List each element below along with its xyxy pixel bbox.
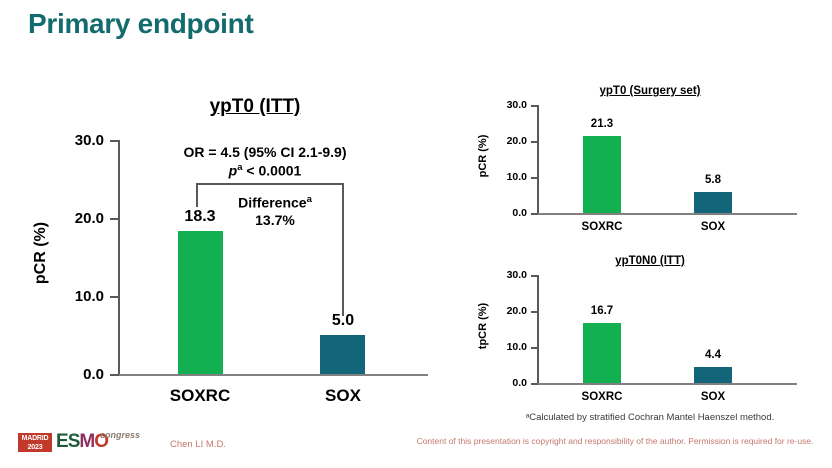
- slide-canvas: Primary endpoint ypT0 (ITT) OR = 4.5 (95…: [0, 0, 832, 468]
- y-tick-20-main: [110, 218, 119, 220]
- annotation-odds-ratio: OR = 4.5 (95% CI 2.1-9.9): [150, 144, 380, 160]
- chart-ypt0-surgery-set: ypT0 (Surgery set) 30.0 20.0 10.0 0.0 pC…: [455, 80, 832, 255]
- esmo-letter-e: E: [56, 431, 68, 452]
- x-axis-line-surgery: [537, 213, 797, 215]
- x-category-sox-t0n0: SOX: [668, 391, 758, 403]
- bar-sox-main: [320, 335, 365, 374]
- bar-sox-surgery: [694, 192, 732, 213]
- y-tick-label-10-main: 10.0: [44, 288, 104, 305]
- y-tick-label-0-t0n0: 0.0: [483, 377, 527, 389]
- esmo-letter-s: S: [68, 431, 80, 452]
- chart-ypt0n0-itt: ypT0N0 (ITT) 30.0 20.0 10.0 0.0 tpCR (%)…: [455, 250, 832, 425]
- bar-value-sox-t0n0: 4.4: [683, 349, 743, 361]
- y-tick-10-t0n0: [531, 347, 538, 349]
- y-axis-line-main: [118, 140, 120, 376]
- y-tick-30-t0n0: [531, 275, 538, 277]
- bar-soxrc-main: [178, 231, 223, 374]
- y-tick-label-30-t0n0: 30.0: [483, 269, 527, 281]
- chart-title-main: ypT0 (ITT): [120, 96, 390, 118]
- y-axis-title-t0n0: tpCR (%): [477, 298, 489, 354]
- bar-soxrc-surgery: [583, 136, 621, 213]
- y-tick-30-main: [110, 140, 119, 142]
- bar-soxrc-t0n0: [583, 323, 621, 383]
- y-tick-10-surgery: [531, 177, 538, 179]
- y-tick-label-30-surgery: 30.0: [483, 99, 527, 111]
- presenter-name: Chen LI M.D.: [170, 439, 226, 450]
- chart-title-surgery: ypT0 (Surgery set): [545, 85, 755, 97]
- x-axis-line-main: [118, 374, 428, 376]
- esmo-letter-m: M: [79, 431, 94, 452]
- y-axis-line-surgery: [537, 105, 539, 213]
- bar-value-sox-surgery: 5.8: [683, 174, 743, 186]
- bar-value-soxrc-main: 18.3: [160, 208, 240, 226]
- esmo-congress-logo: MADRID 2023 ESMO congress: [18, 430, 148, 458]
- x-axis-line-t0n0: [537, 383, 797, 385]
- y-tick-20-surgery: [531, 141, 538, 143]
- annotation-p-value: pa < 0.0001: [150, 162, 380, 179]
- y-tick-0-t0n0: [531, 383, 538, 385]
- esmo-logo-congress-text: congress: [100, 430, 140, 440]
- esmo-logo-location-badge: MADRID 2023: [18, 433, 52, 452]
- x-category-sox-main: SOX: [283, 386, 403, 406]
- difference-bracket-top: [196, 183, 344, 185]
- x-category-sox-surgery: SOX: [668, 221, 758, 233]
- p-rest: < 0.0001: [243, 163, 302, 179]
- chart-ypt0-itt: ypT0 (ITT) OR = 4.5 (95% CI 2.1-9.9) pa …: [0, 0, 460, 420]
- y-axis-title-main: pCR (%): [32, 218, 50, 288]
- esmo-logo-year: 2023: [18, 443, 52, 452]
- y-tick-label-20-surgery: 20.0: [483, 135, 527, 147]
- y-tick-10-main: [110, 296, 119, 298]
- y-axis-title-surgery: pCR (%): [477, 128, 489, 184]
- x-category-soxrc-t0n0: SOXRC: [557, 391, 647, 403]
- y-tick-0-surgery: [531, 213, 538, 215]
- y-tick-label-10-surgery: 10.0: [483, 171, 527, 183]
- y-tick-label-30-main: 30.0: [44, 132, 104, 149]
- difference-label-text: Difference: [238, 195, 306, 211]
- y-tick-label-0-main: 0.0: [44, 366, 104, 383]
- difference-bracket-left: [196, 183, 198, 207]
- x-category-soxrc-surgery: SOXRC: [557, 221, 647, 233]
- bar-value-sox-main: 5.0: [303, 312, 383, 330]
- esmo-logo-city: MADRID: [18, 434, 52, 443]
- x-category-soxrc-main: SOXRC: [140, 386, 260, 406]
- difference-superscript: a: [307, 194, 312, 205]
- y-tick-label-10-t0n0: 10.0: [483, 341, 527, 353]
- chart-title-t0n0: ypT0N0 (ITT): [545, 255, 755, 267]
- y-tick-label-20-t0n0: 20.0: [483, 305, 527, 317]
- bar-value-soxrc-t0n0: 16.7: [572, 305, 632, 317]
- y-tick-label-0-surgery: 0.0: [483, 207, 527, 219]
- y-axis-line-t0n0: [537, 275, 539, 383]
- copyright-notice: Content of this presentation is copyrigh…: [402, 436, 828, 446]
- bar-sox-t0n0: [694, 367, 732, 383]
- p-symbol: p: [229, 163, 238, 179]
- bar-value-soxrc-surgery: 21.3: [572, 118, 632, 130]
- y-tick-0-main: [110, 374, 119, 376]
- y-tick-20-t0n0: [531, 311, 538, 313]
- y-tick-30-surgery: [531, 105, 538, 107]
- y-tick-label-20-main: 20.0: [44, 210, 104, 227]
- statistics-footnote: ᵃCalculated by stratified Cochran Mantel…: [470, 412, 830, 423]
